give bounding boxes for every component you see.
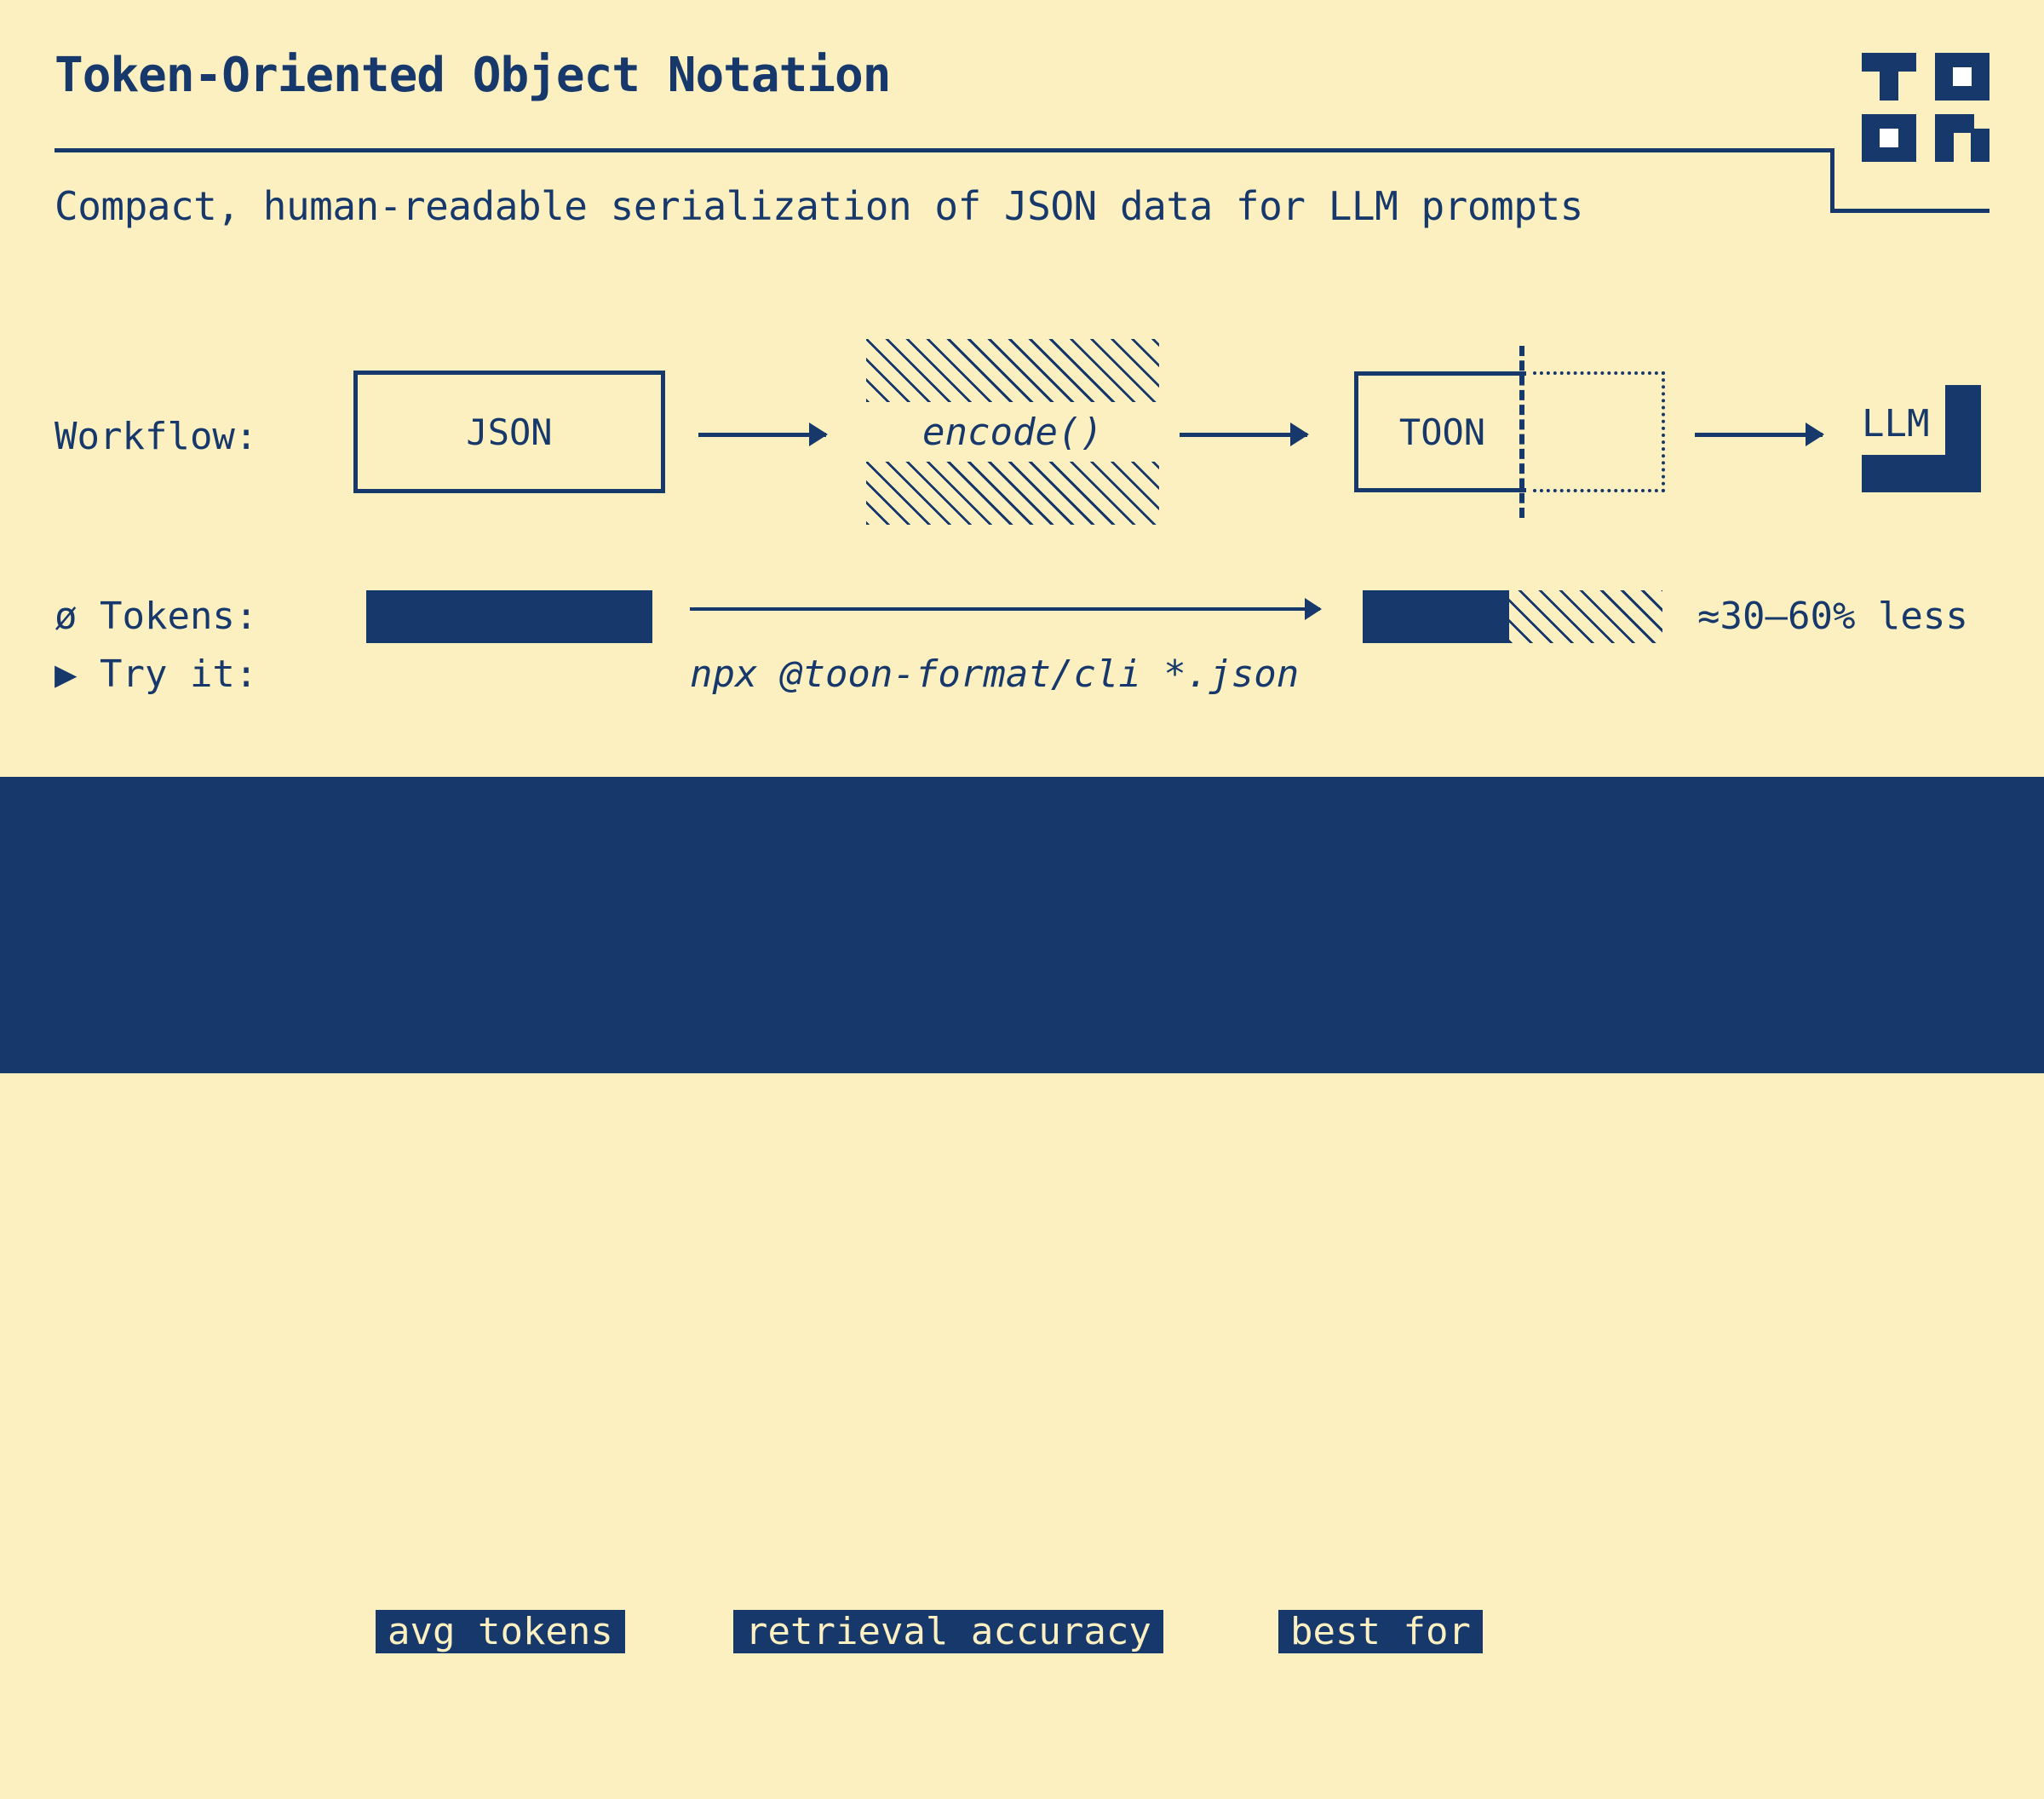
arrow-head-icon-json <box>921 1739 939 1767</box>
try-it-label: ▶ Try it: <box>55 652 257 696</box>
retrieval-value-json: 69.7% <box>1021 1721 1139 1767</box>
panel-avg-tokens-legend: avg tokens <box>376 1610 625 1653</box>
arrow-right-icon-toon: → <box>174 1686 194 1725</box>
panel-avg-tokens: avg tokens <box>328 1635 686 1799</box>
avg-tokens-json-bar <box>374 1721 655 1789</box>
workflow-json-box: JSON <box>353 371 665 493</box>
avg-tokens-toon-fill <box>374 1654 543 1721</box>
footer-row-labels: TOON → JSON → <box>55 1675 194 1795</box>
avg-tokens-toon-bar <box>374 1654 655 1721</box>
footer-row-toon-name: TOON <box>55 1684 174 1727</box>
hatch-band-bottom <box>866 462 1159 525</box>
diamond-icon-toon <box>746 1673 778 1704</box>
header-rule-right <box>1830 209 1989 213</box>
workflow-encode-stage: encode() <box>866 339 1159 525</box>
tokens-label: ø Tokens: <box>55 595 257 638</box>
panel-retrieval-legend: retrieval accuracy <box>733 1610 1163 1653</box>
logo-glyph-n <box>1935 114 1989 162</box>
retrieval-marker-row-toon <box>750 1675 972 1702</box>
toon-box-saved-region <box>1533 371 1665 492</box>
tokens-comparison-arrow-icon <box>690 607 1320 611</box>
logo-glyph-t <box>1862 53 1916 101</box>
tokens-json-bar <box>366 590 652 643</box>
diamond-icon-json <box>746 1738 778 1769</box>
panel-best-for-legend: best for <box>1278 1610 1483 1653</box>
comparison-footer: TOON → JSON → avg tokens retri <box>0 777 2044 1073</box>
header-rule-left <box>55 148 1834 152</box>
header-rule-drop <box>1830 148 1834 213</box>
arrow-right-icon-3 <box>1695 433 1823 437</box>
arrow-head-icon-toon <box>953 1675 972 1702</box>
footer-row-toon: TOON → <box>55 1675 194 1735</box>
arrow-right-icon-2 <box>1180 433 1307 437</box>
best-for-line-1: repeated structure • tables <box>1258 1666 1867 1710</box>
footer-row-json: JSON → <box>55 1735 194 1795</box>
infographic-canvas: Token-Oriented Object Notation Compact, … <box>0 0 2044 1073</box>
tokens-toon-bar-saved <box>1509 590 1662 643</box>
tokens-savings-note: ≈30–60% less <box>1697 595 1968 638</box>
arrow-right-icon-1 <box>698 433 826 437</box>
retrieval-bar-toon <box>768 1685 954 1692</box>
logo-glyph-o-1 <box>1935 53 1989 101</box>
retrieval-marker-row-json <box>750 1739 939 1767</box>
tokens-toon-bar <box>1363 590 1662 643</box>
page-subtitle: Compact, human-readable serialization of… <box>55 183 1583 229</box>
workflow-encode-label: encode() <box>866 402 1159 462</box>
retrieval-value-toon: 73.9% <box>1021 1656 1139 1702</box>
tokens-toon-bar-fill <box>1363 590 1509 643</box>
panel-retrieval-accuracy: retrieval accuracy 73.9% 69.7% <box>686 1635 1231 1799</box>
retrieval-bar-json <box>768 1750 922 1756</box>
logo-glyph-o-2 <box>1862 114 1916 162</box>
footer-row-json-name: JSON <box>55 1744 174 1787</box>
toon-box-divider <box>1519 346 1524 518</box>
page-title: Token-Oriented Object Notation <box>55 48 890 103</box>
panel-best-for: best for repeated structure • tables var… <box>1231 1635 1980 1799</box>
best-for-line-2: varying fields • deep trees <box>1258 1731 1867 1774</box>
avg-tokens-toon-saved <box>543 1654 655 1721</box>
hatch-band-top <box>866 339 1159 402</box>
workflow-label: Workflow: <box>55 415 257 458</box>
workflow-toon-box: TOON <box>1354 371 1526 492</box>
workflow-llm-label: LLM <box>1862 394 1957 453</box>
try-it-command[interactable]: npx @toon-format/cli *.json <box>690 652 1299 696</box>
arrow-right-icon-json: → <box>174 1745 194 1785</box>
toon-logo <box>1862 53 1989 164</box>
workflow-llm-target: LLM <box>1862 385 1981 492</box>
